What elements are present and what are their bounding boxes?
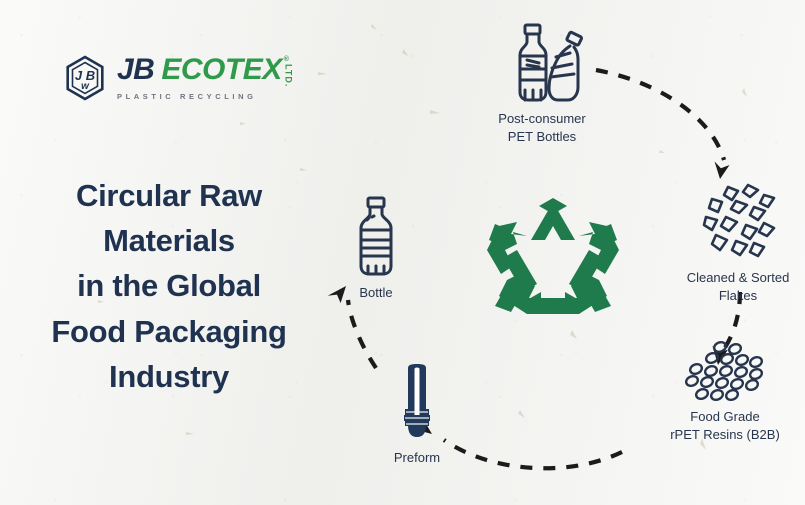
- flakes-icon: [692, 183, 784, 263]
- cycle-node-label: Bottle: [359, 284, 392, 302]
- logo-typography: JB ECO TEX ® LTD. PLASTIC RECYCLING: [117, 55, 293, 101]
- cycle-node-label: Post-consumer PET Bottles: [498, 110, 585, 145]
- logo-text-tex: TEX: [225, 55, 282, 85]
- cycle-node-post-consumer[interactable]: Post-consumer PET Bottles: [452, 22, 632, 145]
- logo-tagline: PLASTIC RECYCLING: [117, 92, 293, 101]
- page-title: Circular Raw Materials in the Global Foo…: [16, 173, 322, 399]
- recycling-symbol-icon: [483, 196, 623, 320]
- connector-preform-to-bottle: [348, 300, 376, 368]
- hexagon-monogram-icon: J B w: [62, 55, 108, 101]
- cycle-node-label: Food Grade rPET Resins (B2B): [670, 408, 780, 443]
- logo-text-ltd: LTD.: [284, 64, 293, 87]
- cycle-node-flakes[interactable]: Cleaned & Sorted Flakes: [648, 183, 805, 304]
- svg-text:w: w: [81, 81, 90, 92]
- preform-icon: [395, 363, 439, 443]
- cycle-node-label: Preform: [394, 449, 440, 467]
- brand-logo[interactable]: J B w JB ECO TEX ® LTD. PLASTIC RECYCLIN…: [62, 55, 293, 101]
- logo-text-jb: JB: [117, 55, 154, 85]
- resin-pellets-icon: [678, 340, 772, 402]
- logo-ltd-stack: ® LTD.: [284, 56, 293, 87]
- logo-text-eco: ECO: [161, 55, 225, 85]
- infographic-canvas: J B w JB ECO TEX ® LTD. PLASTIC RECYCLIN…: [0, 0, 805, 505]
- cycle-node-resins[interactable]: Food Grade rPET Resins (B2B): [630, 340, 805, 443]
- cycle-node-bottle[interactable]: Bottle: [306, 196, 446, 302]
- pet-bottles-icon: [494, 22, 590, 104]
- logo-wordmark: JB ECO TEX ® LTD.: [117, 55, 293, 87]
- circular-economy-diagram: Post-consumer PET Bottles: [300, 0, 805, 505]
- registered-trademark-icon: ®: [284, 56, 289, 63]
- cycle-node-label: Cleaned & Sorted Flakes: [687, 269, 790, 304]
- cycle-node-preform[interactable]: Preform: [342, 363, 492, 467]
- bottle-icon: [349, 196, 403, 278]
- arrowhead-flakes: [715, 161, 730, 179]
